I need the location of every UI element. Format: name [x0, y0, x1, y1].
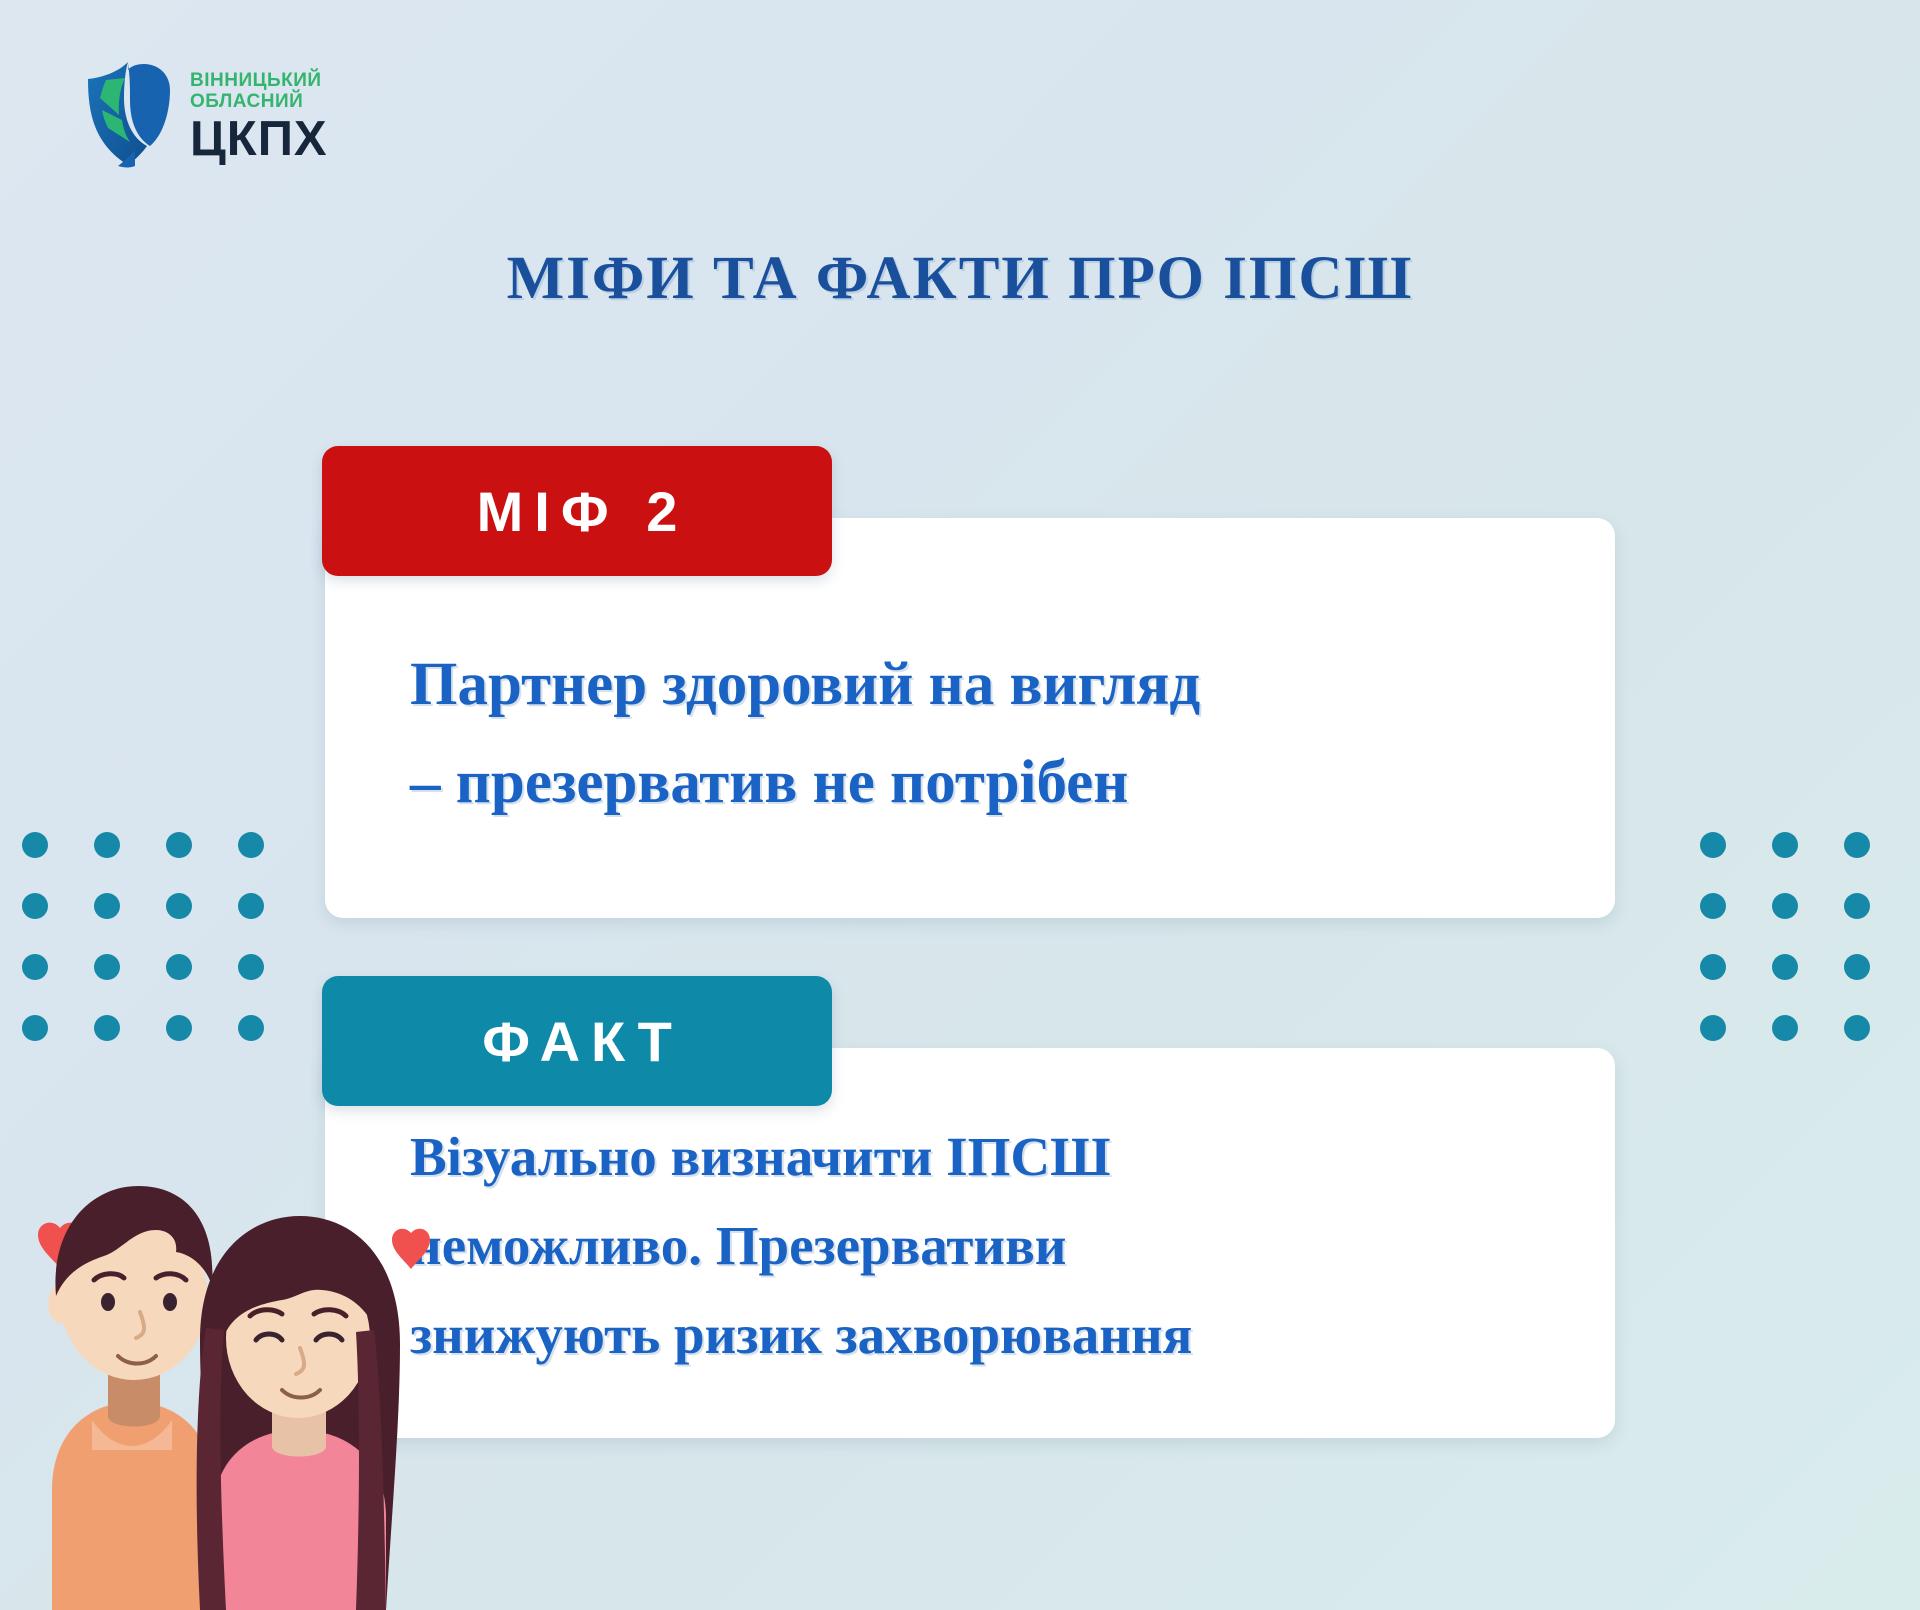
- dot-icon: [22, 832, 48, 858]
- page-title: МІФИ ТА ФАКТИ ПРО ІПСШ: [0, 244, 1920, 314]
- myth-line: Партнер здоровий на вигляд: [410, 636, 1590, 734]
- brand-logo: ВІННИЦЬКИЙ ОБЛАСНИЙ ЦКПХ: [78, 58, 328, 170]
- fact-text: Візуально визначити ІПСШ неможливо. През…: [410, 1112, 1570, 1379]
- fact-badge: ФАКТ: [322, 976, 832, 1106]
- dot-icon: [22, 1015, 48, 1041]
- dot-icon: [1844, 1015, 1870, 1041]
- myth-line: – презерватив не потрібен: [410, 734, 1590, 832]
- dot-icon: [94, 832, 120, 858]
- myth-badge: МІФ 2: [322, 446, 832, 576]
- fact-line: знижують ризик захворювання: [410, 1290, 1570, 1379]
- couple-illustration-icon: [0, 1090, 430, 1610]
- dot-icon: [1772, 832, 1798, 858]
- dot-icon: [94, 1015, 120, 1041]
- dot-icon: [1700, 1015, 1726, 1041]
- dot-icon: [94, 893, 120, 919]
- dot-icon: [166, 832, 192, 858]
- dot-icon: [1700, 832, 1726, 858]
- dot-icon: [166, 893, 192, 919]
- heart-icon: [392, 1229, 430, 1269]
- dot-icon: [1844, 893, 1870, 919]
- org-line-2: ОБЛАСНИЙ: [190, 91, 328, 112]
- dot-icon: [1772, 954, 1798, 980]
- dot-icon: [238, 1015, 264, 1041]
- dot-icon: [238, 893, 264, 919]
- dot-icon: [1844, 832, 1870, 858]
- dot-icon: [94, 954, 120, 980]
- dot-icon: [1772, 1015, 1798, 1041]
- dot-icon: [22, 893, 48, 919]
- dot-icon: [238, 832, 264, 858]
- org-line-1: ВІННИЦЬКИЙ: [190, 70, 328, 91]
- dot-grid-icon-right: [1700, 832, 1916, 1076]
- dot-icon: [1700, 954, 1726, 980]
- dot-icon: [1844, 954, 1870, 980]
- dot-grid-icon-left: [22, 832, 310, 1076]
- dot-icon: [166, 1015, 192, 1041]
- dot-icon: [166, 954, 192, 980]
- dot-icon: [238, 954, 264, 980]
- dot-icon: [1772, 893, 1798, 919]
- dot-icon: [1700, 893, 1726, 919]
- infographic-canvas: ВІННИЦЬКИЙ ОБЛАСНИЙ ЦКПХ МІФИ ТА ФАКТИ П…: [0, 0, 1920, 1610]
- dot-icon: [22, 954, 48, 980]
- fact-line: неможливо. Презервативи: [410, 1201, 1570, 1290]
- myth-text: Партнер здоровий на вигляд – презерватив…: [410, 636, 1590, 832]
- fact-line: Візуально визначити ІПСШ: [410, 1112, 1570, 1201]
- org-abbreviation: ЦКПХ: [190, 114, 328, 164]
- shield-heart-logo-icon: [78, 58, 178, 170]
